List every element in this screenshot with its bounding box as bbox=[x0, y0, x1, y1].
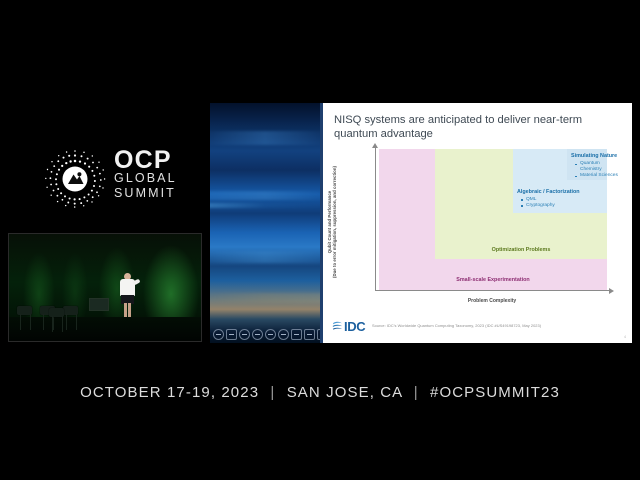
slide-title: NISQ systems are anticipated to deliver … bbox=[334, 113, 616, 141]
settings-icon[interactable] bbox=[304, 329, 315, 340]
banner-separator: | bbox=[408, 384, 425, 401]
chart-label-small-scale-experimentation: Small-scale Experimentation bbox=[379, 277, 607, 283]
shape-icon[interactable] bbox=[278, 329, 289, 340]
stop-icon[interactable] bbox=[226, 329, 237, 340]
x-axis-label: Problem Complexity bbox=[375, 298, 609, 304]
ocp-wordmark-line3: SUMMIT bbox=[114, 186, 196, 201]
stage-stool bbox=[63, 306, 78, 315]
event-date: OCTOBER 17-19, 2023 bbox=[80, 384, 259, 401]
chart-bullets-simulating-nature: Quantum Chemistry Material Sciences bbox=[571, 161, 619, 179]
slide-page-number: 4 bbox=[624, 335, 626, 339]
x-axis bbox=[375, 290, 609, 291]
slide-source-attribution: Source: IDC's Worldwide Quantum Computin… bbox=[372, 323, 541, 328]
y-axis-label-line2: (Due to error mitigation, suppression, a… bbox=[332, 157, 337, 287]
banner-separator: | bbox=[264, 384, 281, 401]
idc-swoosh-icon bbox=[332, 320, 343, 333]
event-location: SAN JOSE, CA bbox=[287, 384, 403, 401]
idc-logo: IDC bbox=[332, 319, 365, 334]
list-item: Quantum Chemistry bbox=[575, 161, 619, 173]
ocp-starburst-mountain-icon bbox=[44, 148, 106, 210]
event-info-banner: OCTOBER 17-19, 2023 | SAN JOSE, CA | #OC… bbox=[0, 384, 640, 401]
y-axis bbox=[375, 147, 376, 291]
chart-label-algebraic-factorization-title: Algebraic / Factorization bbox=[517, 189, 580, 195]
stage-stool bbox=[49, 308, 64, 317]
slide-footer: IDC Source: IDC's Worldwide Quantum Comp… bbox=[320, 313, 632, 343]
blue-streak bbox=[210, 293, 320, 303]
ocp-logo: OCP GLOBAL SUMMIT bbox=[44, 148, 194, 210]
record-icon[interactable] bbox=[213, 329, 224, 340]
ocp-wordmark: OCP GLOBAL SUMMIT bbox=[114, 150, 196, 201]
eraser-icon[interactable] bbox=[265, 329, 276, 340]
y-axis-arrow-icon bbox=[372, 143, 378, 148]
speaker-stage-video[interactable] bbox=[8, 233, 202, 342]
chart-bullets-algebraic-factorization: QML Cryptography bbox=[517, 197, 580, 209]
video-annotation-toolbar[interactable] bbox=[213, 329, 320, 340]
slide-accent-bar bbox=[320, 103, 323, 343]
list-item: Material Sciences bbox=[575, 173, 619, 179]
speaker-figure bbox=[119, 273, 136, 317]
y-axis-label: Qubit Count and Performance (Due to erro… bbox=[327, 157, 339, 287]
chart-label-simulating-nature: Simulating Nature Quantum Chemistry Mate… bbox=[571, 153, 619, 179]
list-item: Cryptography bbox=[521, 203, 580, 209]
stage-stool bbox=[17, 306, 32, 315]
stage-podium bbox=[89, 298, 109, 311]
x-axis-arrow-icon bbox=[609, 288, 614, 294]
chart-label-optimization-problems: Optimization Problems bbox=[435, 247, 607, 253]
ocp-wordmark-line1: OCP bbox=[114, 150, 196, 171]
presentation-slide[interactable]: NISQ systems are anticipated to deliver … bbox=[320, 103, 632, 343]
chart-label-simulating-nature-title: Simulating Nature bbox=[571, 153, 619, 159]
presentation-canvas: OCP GLOBAL SUMMIT bbox=[0, 0, 640, 480]
abstract-blue-panel[interactable] bbox=[210, 103, 320, 343]
quantum-advantage-chart: Qubit Count and Performance (Due to erro… bbox=[353, 147, 615, 305]
event-hashtag: #OCPSUMMIT23 bbox=[430, 384, 560, 401]
text-icon[interactable] bbox=[291, 329, 302, 340]
highlighter-icon[interactable] bbox=[252, 329, 263, 340]
blue-streak bbox=[210, 251, 320, 263]
stage-floor bbox=[9, 317, 201, 341]
chart-label-algebraic-factorization: Algebraic / Factorization QML Cryptograp… bbox=[517, 189, 580, 209]
idc-logo-text: IDC bbox=[344, 319, 365, 334]
blue-streak bbox=[210, 131, 320, 145]
pen-icon[interactable] bbox=[239, 329, 250, 340]
blue-streak bbox=[210, 191, 320, 200]
ocp-wordmark-line2: GLOBAL bbox=[114, 171, 196, 186]
blue-streak bbox=[210, 203, 320, 208]
